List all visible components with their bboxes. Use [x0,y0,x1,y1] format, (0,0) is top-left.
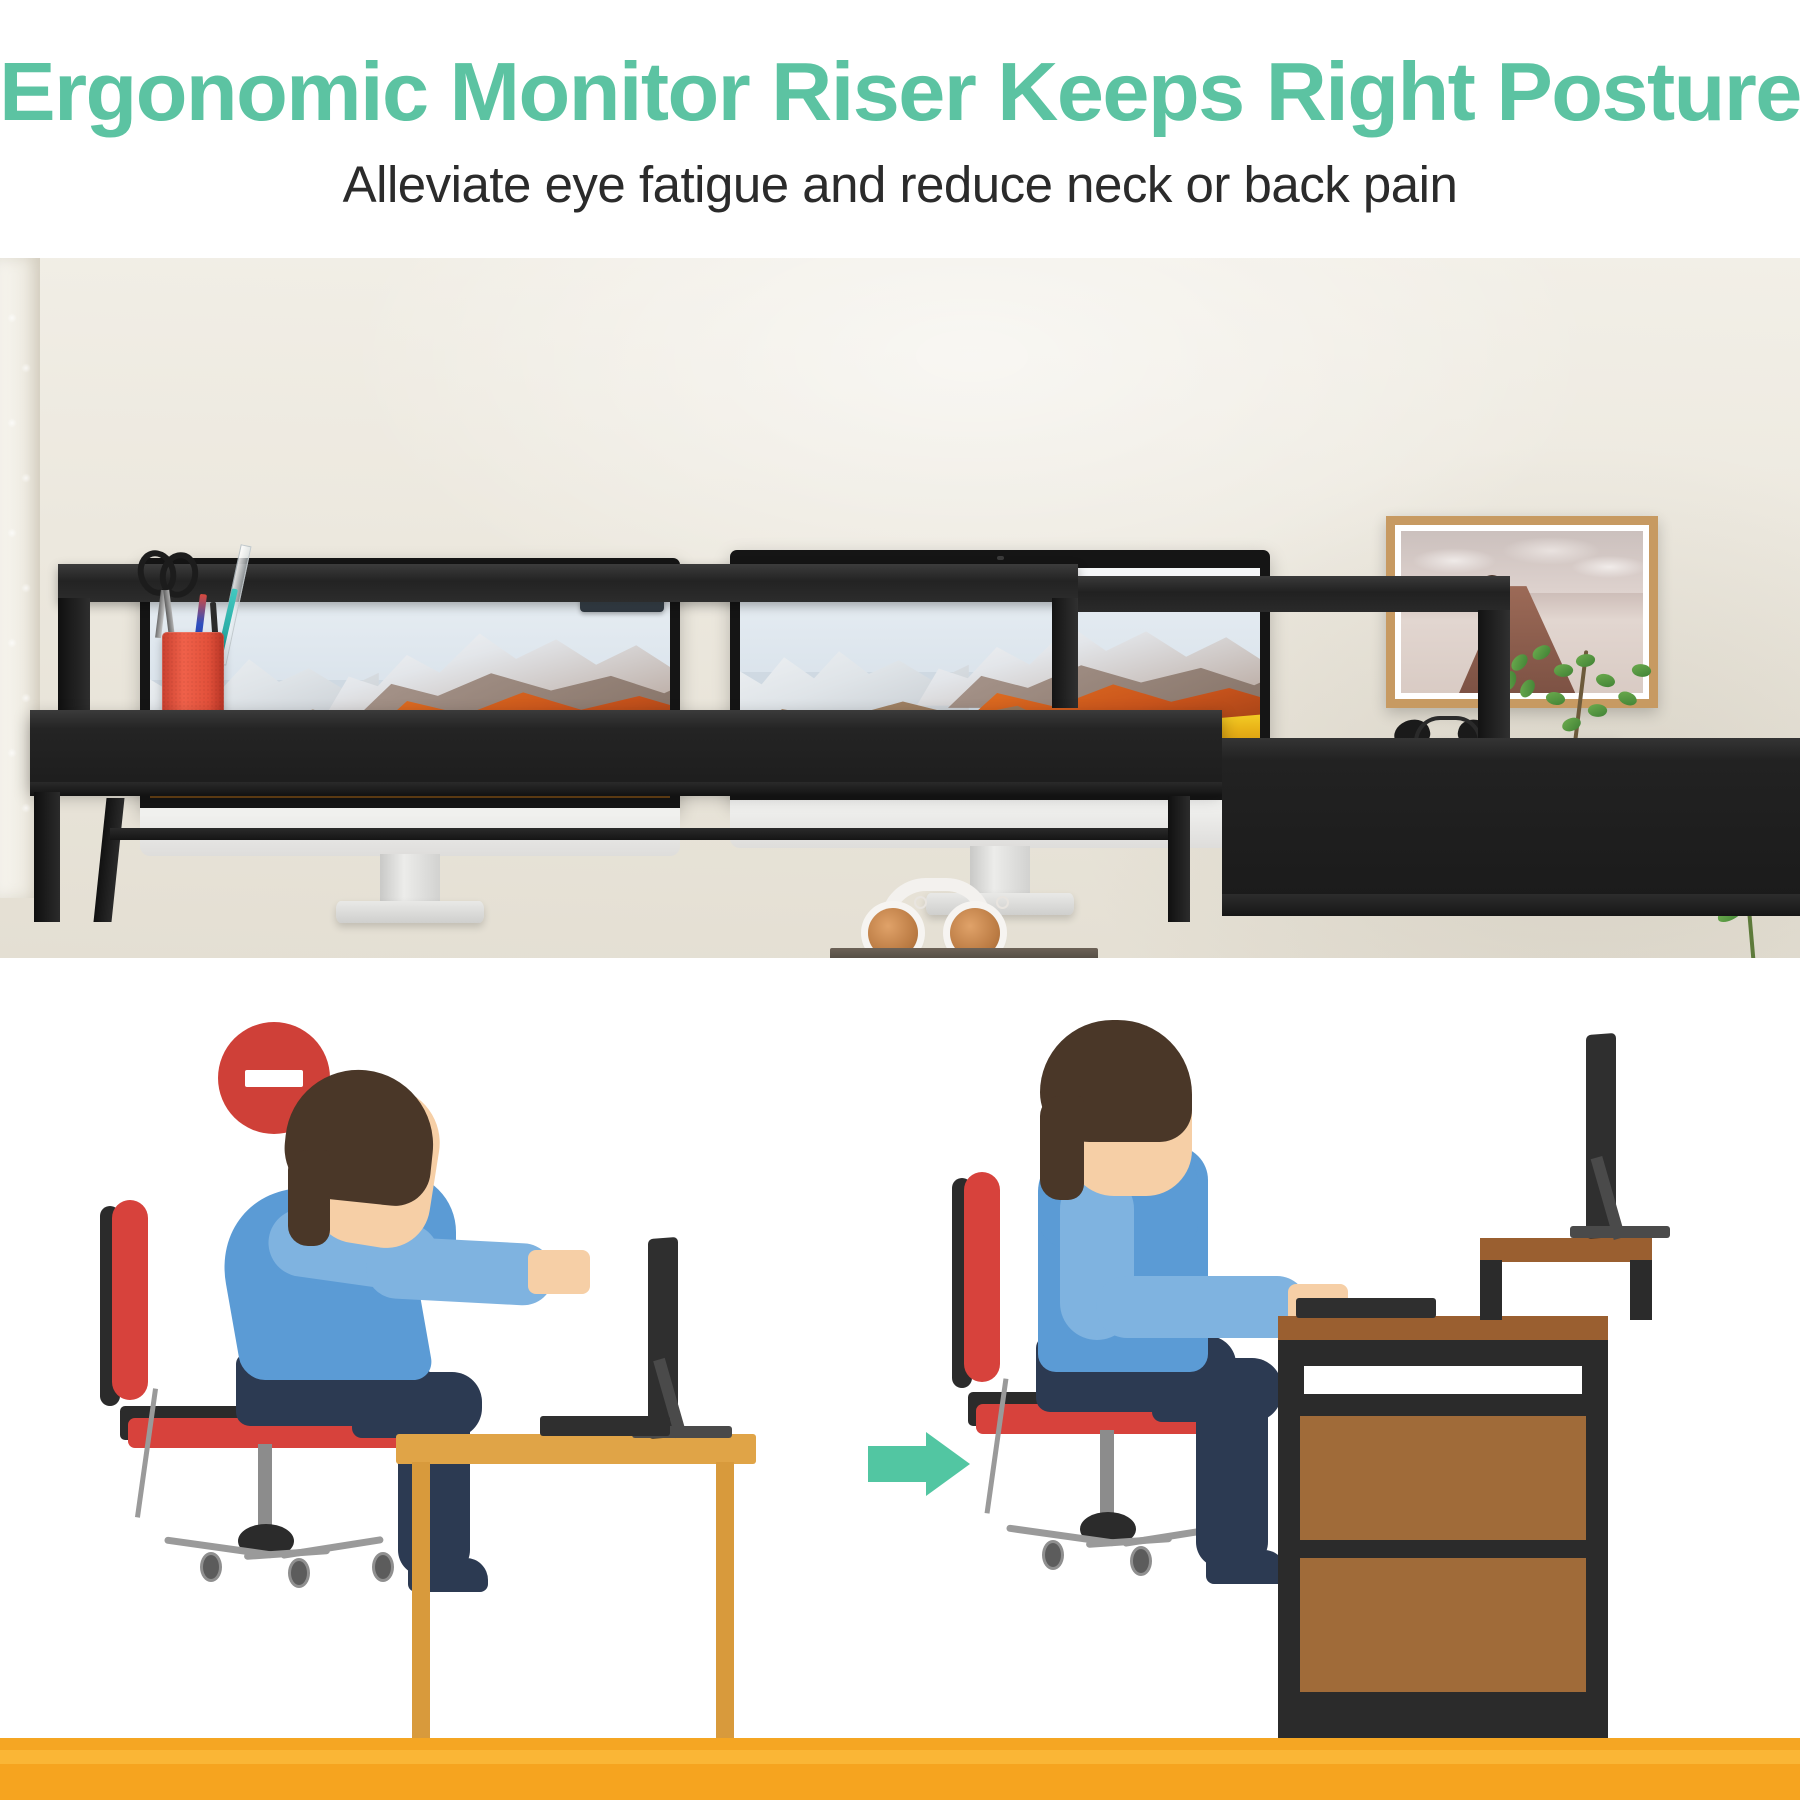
book-stack: ANTIQUE DEALER THRIFT [830,948,1098,958]
riser-leg-middle [1052,598,1078,708]
good-person-shin [1196,1402,1268,1568]
bad-chair-wheel-3 [372,1552,394,1582]
good-riser-shelf-top [1480,1238,1652,1262]
product-lifestyle-photo: ANTIQUE DEALER THRIFT EPSON L355 E [0,258,1800,958]
bad-chair-post [258,1444,272,1534]
page-subtitle: Alleviate eye fatigue and reduce neck or… [0,155,1800,214]
header-banner: Ergonomic Monitor Riser Keeps Right Post… [0,0,1800,258]
good-desk-drawer-upper [1300,1416,1586,1540]
floor-strip [0,1738,1800,1800]
good-desk-drawer-lower [1300,1558,1586,1692]
good-keyboard [1296,1298,1436,1318]
book-top [830,948,1098,958]
pen-cup [162,632,224,718]
product-marketing-page: Ergonomic Monitor Riser Keeps Right Post… [0,0,1800,1800]
good-person-forearm [1096,1276,1308,1338]
bad-person-hand [528,1250,590,1294]
no-entry-bar [245,1070,303,1087]
bad-desk-surface [396,1434,756,1464]
good-person-foot [1206,1550,1286,1584]
desk-lower-shelf-right [1222,894,1800,916]
headphone-dot-left [914,896,927,909]
left-monitor-foot [336,901,484,923]
riser-leg-left [58,598,90,718]
good-desk-frame-top [1278,1340,1608,1366]
bad-chair-spoke-right [280,1536,384,1559]
good-riser-leg-left [1480,1260,1502,1320]
scissors [138,550,194,640]
left-monitor-neck [380,854,440,906]
desk-leg-right [1168,796,1190,922]
bad-chair-wheel-2 [288,1558,310,1588]
good-monitor-base [1570,1226,1670,1238]
bad-chair-wheel-1 [200,1552,222,1582]
desk-surface-right [1222,738,1800,898]
posture-comparison-illustration [0,958,1800,1800]
good-desk-divider [1278,1394,1608,1416]
good-desk-drawer-split [1278,1540,1608,1558]
monitor-riser-shelf-right [1078,576,1510,612]
bad-chair-back [112,1200,148,1400]
headphones [862,878,1010,956]
right-monitor-camera-icon [997,556,1004,560]
good-chair-post [1100,1430,1114,1522]
desk-edge [30,782,1222,796]
good-riser-leg-right [1630,1260,1652,1320]
desk-surface-left [30,710,1222,788]
desk-crossbrace [110,828,1180,840]
bad-person-sideburn [288,1150,330,1246]
headphone-dot-right [996,896,1009,909]
good-chair-wheel-2 [1130,1546,1152,1576]
page-title: Ergonomic Monitor Riser Keeps Right Post… [0,44,1800,140]
bad-desk-leg-right [716,1462,734,1752]
good-person-sideburn [1040,1096,1084,1200]
monitor-riser-shelf-left [58,564,1078,602]
bad-desk-leg-left [412,1462,430,1752]
good-chair-wheel-1 [1042,1540,1064,1570]
desk-leg-left [34,792,60,922]
good-chair-back [964,1172,1000,1382]
bad-keyboard [540,1416,670,1436]
